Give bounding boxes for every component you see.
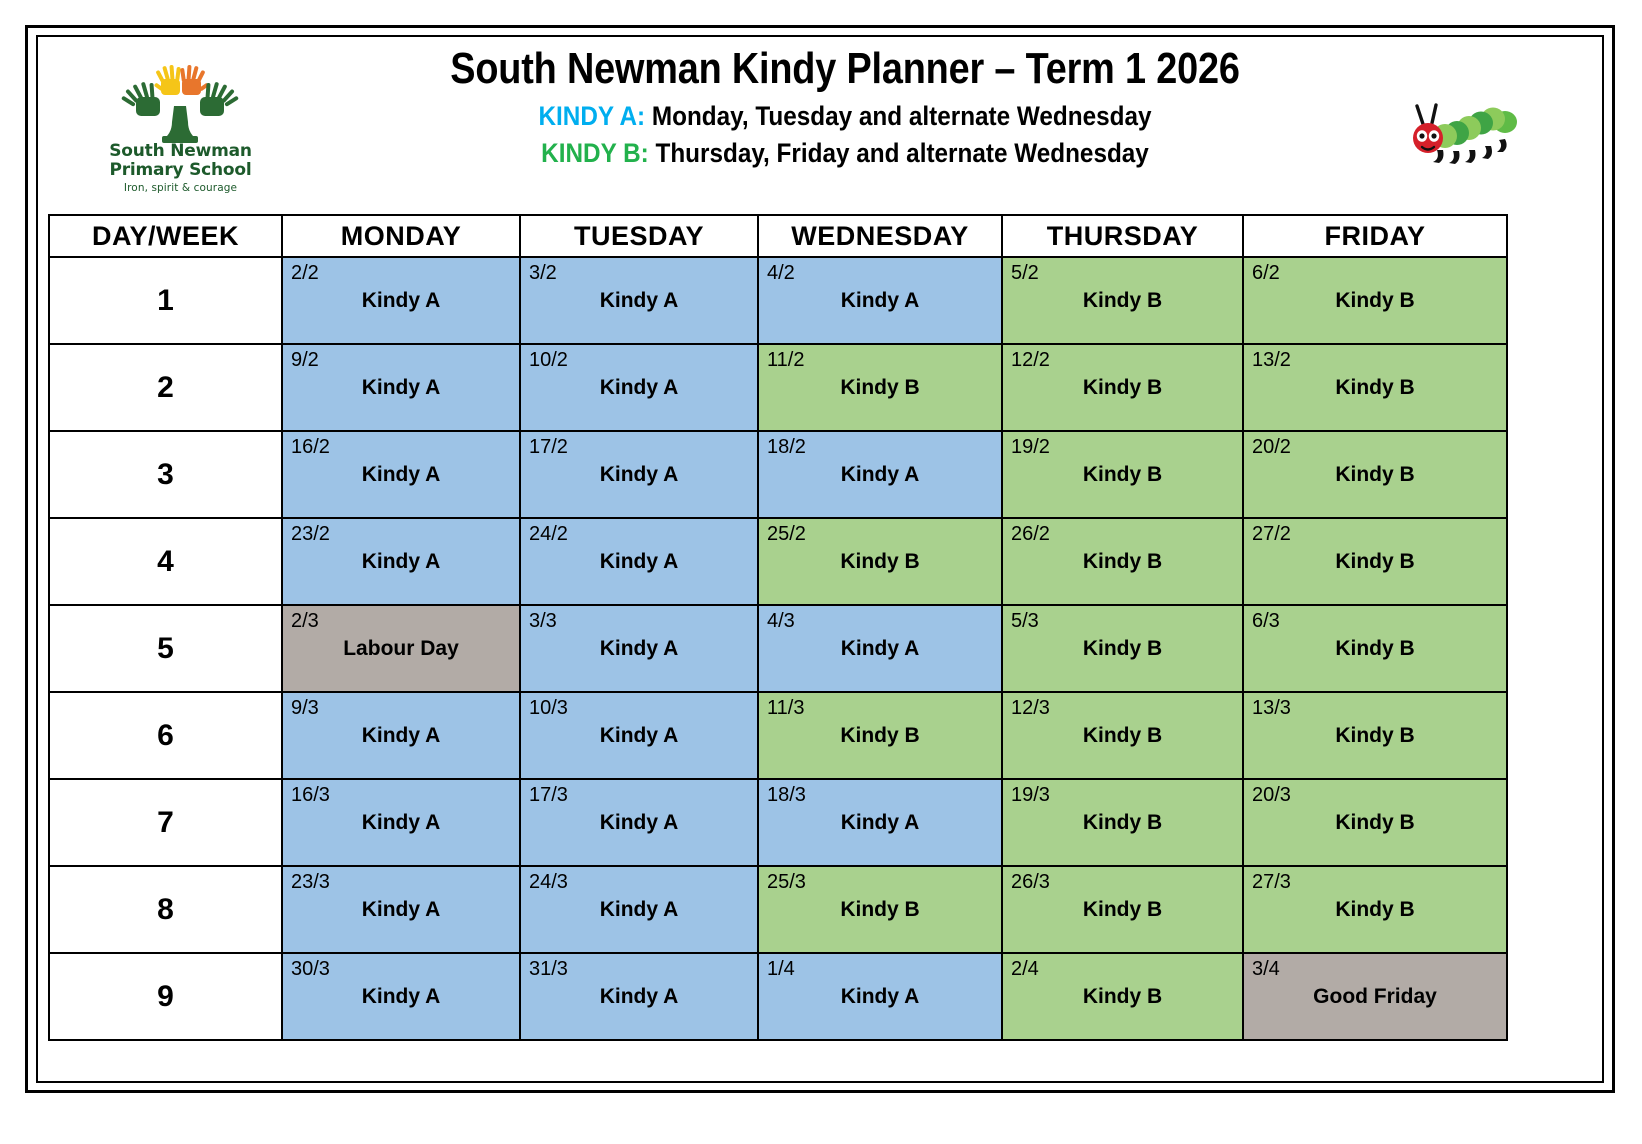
- kindy-a-subtitle: KINDY A: Monday, Tuesday and alternate W…: [346, 98, 1345, 135]
- cell-label: Kindy A: [759, 463, 1001, 487]
- week-number-cell: 5: [49, 605, 282, 692]
- cell-date: 26/3: [1011, 871, 1050, 893]
- school-logo: South Newman Primary School Iron, spirit…: [88, 56, 273, 196]
- day-cell[interactable]: 12/3Kindy B: [1002, 692, 1243, 779]
- column-header-day-week: DAY/WEEK: [49, 215, 282, 257]
- cell-label: Kindy B: [1244, 811, 1506, 835]
- table-row: 12/2Kindy A3/2Kindy A4/2Kindy A5/2Kindy …: [49, 257, 1507, 344]
- cell-date: 18/2: [767, 436, 806, 458]
- logo-tagline: Iron, spirit & courage: [88, 180, 273, 196]
- cell-label: Kindy A: [759, 289, 1001, 313]
- cell-label: Labour Day: [283, 637, 519, 661]
- cell-label: Kindy B: [1003, 637, 1242, 661]
- week-number-cell: 9: [49, 953, 282, 1040]
- cell-label: Kindy B: [1003, 376, 1242, 400]
- cell-label: Kindy B: [1244, 463, 1506, 487]
- cell-date: 20/3: [1252, 784, 1291, 806]
- logo-line-2: Primary School: [88, 161, 273, 180]
- cell-label: Kindy A: [283, 376, 519, 400]
- cell-label: Kindy B: [759, 550, 1001, 574]
- page-header: South Newman Primary School Iron, spirit…: [40, 40, 1600, 210]
- cell-label: Kindy A: [283, 550, 519, 574]
- cell-date: 18/3: [767, 784, 806, 806]
- cell-date: 13/3: [1252, 697, 1291, 719]
- cell-date: 12/2: [1011, 349, 1050, 371]
- cell-date: 30/3: [291, 958, 330, 980]
- table-row: 29/2Kindy A10/2Kindy A11/2Kindy B12/2Kin…: [49, 344, 1507, 431]
- cell-label: Kindy B: [1244, 289, 1506, 313]
- cell-date: 23/2: [291, 523, 330, 545]
- day-cell[interactable]: 25/2Kindy B: [758, 518, 1002, 605]
- kindy-a-label: KINDY A:: [538, 101, 645, 131]
- cell-label: Good Friday: [1244, 985, 1506, 1009]
- day-cell[interactable]: 17/2Kindy A: [520, 431, 758, 518]
- column-header-friday: FRIDAY: [1243, 215, 1507, 257]
- column-header-monday: MONDAY: [282, 215, 520, 257]
- cell-label: Kindy B: [1003, 811, 1242, 835]
- cell-date: 23/3: [291, 871, 330, 893]
- day-cell[interactable]: 3/4Good Friday: [1243, 953, 1507, 1040]
- day-cell[interactable]: 6/2Kindy B: [1243, 257, 1507, 344]
- day-cell[interactable]: 25/3Kindy B: [758, 866, 1002, 953]
- cell-date: 19/3: [1011, 784, 1050, 806]
- cell-label: Kindy A: [759, 985, 1001, 1009]
- day-cell[interactable]: 3/3Kindy A: [520, 605, 758, 692]
- cell-date: 2/4: [1011, 958, 1039, 980]
- day-cell[interactable]: 3/2Kindy A: [520, 257, 758, 344]
- cell-date: 3/3: [529, 610, 557, 632]
- week-number-cell: 8: [49, 866, 282, 953]
- day-cell[interactable]: 19/3Kindy B: [1002, 779, 1243, 866]
- cell-date: 5/3: [1011, 610, 1039, 632]
- day-cell[interactable]: 6/3Kindy B: [1243, 605, 1507, 692]
- day-cell[interactable]: 12/2Kindy B: [1002, 344, 1243, 431]
- cell-date: 4/2: [767, 262, 795, 284]
- cell-label: Kindy A: [759, 811, 1001, 835]
- cell-label: Kindy B: [1003, 463, 1242, 487]
- week-number-cell: 6: [49, 692, 282, 779]
- cell-date: 6/3: [1252, 610, 1280, 632]
- cell-label: Kindy A: [521, 463, 757, 487]
- cell-label: Kindy B: [759, 898, 1001, 922]
- cell-date: 25/3: [767, 871, 806, 893]
- table-row: 423/2Kindy A24/2Kindy A25/2Kindy B26/2Ki…: [49, 518, 1507, 605]
- cell-date: 6/2: [1252, 262, 1280, 284]
- cell-label: Kindy A: [283, 811, 519, 835]
- cell-date: 24/3: [529, 871, 568, 893]
- cell-label: Kindy A: [521, 376, 757, 400]
- cell-label: Kindy B: [1003, 550, 1242, 574]
- cell-date: 26/2: [1011, 523, 1050, 545]
- cell-date: 20/2: [1252, 436, 1291, 458]
- cell-date: 12/3: [1011, 697, 1050, 719]
- day-cell[interactable]: 11/2Kindy B: [758, 344, 1002, 431]
- cell-label: Kindy A: [283, 289, 519, 313]
- caterpillar-icon: [1395, 98, 1520, 168]
- cell-label: Kindy A: [283, 898, 519, 922]
- cell-date: 13/2: [1252, 349, 1291, 371]
- cell-label: Kindy B: [1003, 985, 1242, 1009]
- cell-date: 9/3: [291, 697, 319, 719]
- day-cell[interactable]: 5/2Kindy B: [1002, 257, 1243, 344]
- cell-date: 24/2: [529, 523, 568, 545]
- cell-date: 1/4: [767, 958, 795, 980]
- day-cell[interactable]: 19/2Kindy B: [1002, 431, 1243, 518]
- day-cell[interactable]: 18/2Kindy A: [758, 431, 1002, 518]
- table-row: 52/3Labour Day3/3Kindy A4/3Kindy A5/3Kin…: [49, 605, 1507, 692]
- cell-label: Kindy A: [521, 550, 757, 574]
- day-cell[interactable]: 2/3Labour Day: [282, 605, 520, 692]
- cell-label: Kindy B: [1244, 724, 1506, 748]
- column-header-wednesday: WEDNESDAY: [758, 215, 1002, 257]
- cell-date: 16/2: [291, 436, 330, 458]
- day-cell[interactable]: 9/2Kindy A: [282, 344, 520, 431]
- cell-date: 27/3: [1252, 871, 1291, 893]
- planner-page: South Newman Primary School Iron, spirit…: [0, 0, 1642, 1144]
- cell-date: 2/2: [291, 262, 319, 284]
- tree-of-hands-logo-icon: [116, 56, 244, 144]
- day-cell[interactable]: 24/3Kindy A: [520, 866, 758, 953]
- day-cell[interactable]: 23/2Kindy A: [282, 518, 520, 605]
- kindy-b-label: KINDY B:: [541, 138, 649, 168]
- week-number-cell: 2: [49, 344, 282, 431]
- day-cell[interactable]: 4/3Kindy A: [758, 605, 1002, 692]
- cell-label: Kindy A: [521, 637, 757, 661]
- kindy-a-days: Monday, Tuesday and alternate Wednesday: [645, 101, 1151, 131]
- cell-label: Kindy B: [1244, 550, 1506, 574]
- cell-date: 11/3: [767, 697, 804, 719]
- day-cell[interactable]: 16/2Kindy A: [282, 431, 520, 518]
- table-row: 716/3Kindy A17/3Kindy A18/3Kindy A19/3Ki…: [49, 779, 1507, 866]
- cell-label: Kindy A: [283, 985, 519, 1009]
- day-cell[interactable]: 27/2Kindy B: [1243, 518, 1507, 605]
- cell-date: 10/3: [529, 697, 568, 719]
- day-cell[interactable]: 16/3Kindy A: [282, 779, 520, 866]
- cell-date: 3/4: [1252, 958, 1280, 980]
- column-header-thursday: THURSDAY: [1002, 215, 1243, 257]
- title-block: South Newman Kindy Planner – Term 1 2026…: [290, 40, 1400, 172]
- day-cell[interactable]: 1/4Kindy A: [758, 953, 1002, 1040]
- day-cell[interactable]: 2/2Kindy A: [282, 257, 520, 344]
- day-cell[interactable]: 5/3Kindy B: [1002, 605, 1243, 692]
- cell-label: Kindy B: [1244, 898, 1506, 922]
- table-row: 69/3Kindy A10/3Kindy A11/3Kindy B12/3Kin…: [49, 692, 1507, 779]
- cell-date: 31/3: [529, 958, 568, 980]
- cell-label: Kindy A: [759, 637, 1001, 661]
- kindy-b-days: Thursday, Friday and alternate Wednesday: [649, 138, 1149, 168]
- column-header-tuesday: TUESDAY: [520, 215, 758, 257]
- cell-date: 5/2: [1011, 262, 1039, 284]
- table-body: 12/2Kindy A3/2Kindy A4/2Kindy A5/2Kindy …: [49, 257, 1507, 1040]
- day-cell[interactable]: 31/3Kindy A: [520, 953, 758, 1040]
- cell-date: 27/2: [1252, 523, 1291, 545]
- cell-date: 10/2: [529, 349, 568, 371]
- cell-date: 2/3: [291, 610, 319, 632]
- cell-label: Kindy A: [283, 724, 519, 748]
- cell-label: Kindy B: [1003, 289, 1242, 313]
- day-cell[interactable]: 23/3Kindy A: [282, 866, 520, 953]
- cell-label: Kindy B: [1003, 898, 1242, 922]
- day-cell[interactable]: 27/3Kindy B: [1243, 866, 1507, 953]
- day-cell[interactable]: 24/2Kindy A: [520, 518, 758, 605]
- cell-date: 19/2: [1011, 436, 1050, 458]
- page-title: South Newman Kindy Planner – Term 1 2026: [368, 40, 1323, 98]
- day-cell[interactable]: 17/3Kindy A: [520, 779, 758, 866]
- kindy-b-subtitle: KINDY B: Thursday, Friday and alternate …: [346, 135, 1345, 172]
- day-cell[interactable]: 30/3Kindy A: [282, 953, 520, 1040]
- week-number-cell: 1: [49, 257, 282, 344]
- cell-date: 11/2: [767, 349, 804, 371]
- day-cell[interactable]: 20/3Kindy B: [1243, 779, 1507, 866]
- cell-label: Kindy B: [759, 376, 1001, 400]
- logo-line-1: South Newman: [88, 142, 273, 161]
- day-cell[interactable]: 11/3Kindy B: [758, 692, 1002, 779]
- cell-label: Kindy A: [283, 463, 519, 487]
- table-row: 930/3Kindy A31/3Kindy A1/4Kindy A2/4Kind…: [49, 953, 1507, 1040]
- table-row: 823/3Kindy A24/3Kindy A25/3Kindy B26/3Ki…: [49, 866, 1507, 953]
- day-cell[interactable]: 13/3Kindy B: [1243, 692, 1507, 779]
- cell-label: Kindy A: [521, 724, 757, 748]
- cell-date: 4/3: [767, 610, 795, 632]
- day-cell[interactable]: 10/2Kindy A: [520, 344, 758, 431]
- day-cell[interactable]: 2/4Kindy B: [1002, 953, 1243, 1040]
- day-cell[interactable]: 9/3Kindy A: [282, 692, 520, 779]
- kindy-planner-table: DAY/WEEK MONDAY TUESDAY WEDNESDAY THURSD…: [48, 214, 1508, 1041]
- cell-date: 16/3: [291, 784, 330, 806]
- cell-date: 17/3: [529, 784, 568, 806]
- table-row: 316/2Kindy A17/2Kindy A18/2Kindy A19/2Ki…: [49, 431, 1507, 518]
- cell-date: 25/2: [767, 523, 806, 545]
- cell-label: Kindy B: [1244, 637, 1506, 661]
- cell-label: Kindy B: [759, 724, 1001, 748]
- cell-label: Kindy A: [521, 811, 757, 835]
- cell-date: 17/2: [529, 436, 568, 458]
- cell-date: 3/2: [529, 262, 557, 284]
- table-header-row: DAY/WEEK MONDAY TUESDAY WEDNESDAY THURSD…: [49, 215, 1507, 257]
- day-cell[interactable]: 26/2Kindy B: [1002, 518, 1243, 605]
- week-number-cell: 4: [49, 518, 282, 605]
- day-cell[interactable]: 10/3Kindy A: [520, 692, 758, 779]
- cell-label: Kindy B: [1244, 376, 1506, 400]
- cell-label: Kindy B: [1003, 724, 1242, 748]
- day-cell[interactable]: 13/2Kindy B: [1243, 344, 1507, 431]
- cell-label: Kindy A: [521, 898, 757, 922]
- day-cell[interactable]: 26/3Kindy B: [1002, 866, 1243, 953]
- day-cell[interactable]: 18/3Kindy A: [758, 779, 1002, 866]
- cell-date: 9/2: [291, 349, 319, 371]
- cell-label: Kindy A: [521, 289, 757, 313]
- cell-label: Kindy A: [521, 985, 757, 1009]
- week-number-cell: 7: [49, 779, 282, 866]
- day-cell[interactable]: 20/2Kindy B: [1243, 431, 1507, 518]
- week-number-cell: 3: [49, 431, 282, 518]
- day-cell[interactable]: 4/2Kindy A: [758, 257, 1002, 344]
- school-logo-text: South Newman Primary School Iron, spirit…: [88, 142, 273, 196]
